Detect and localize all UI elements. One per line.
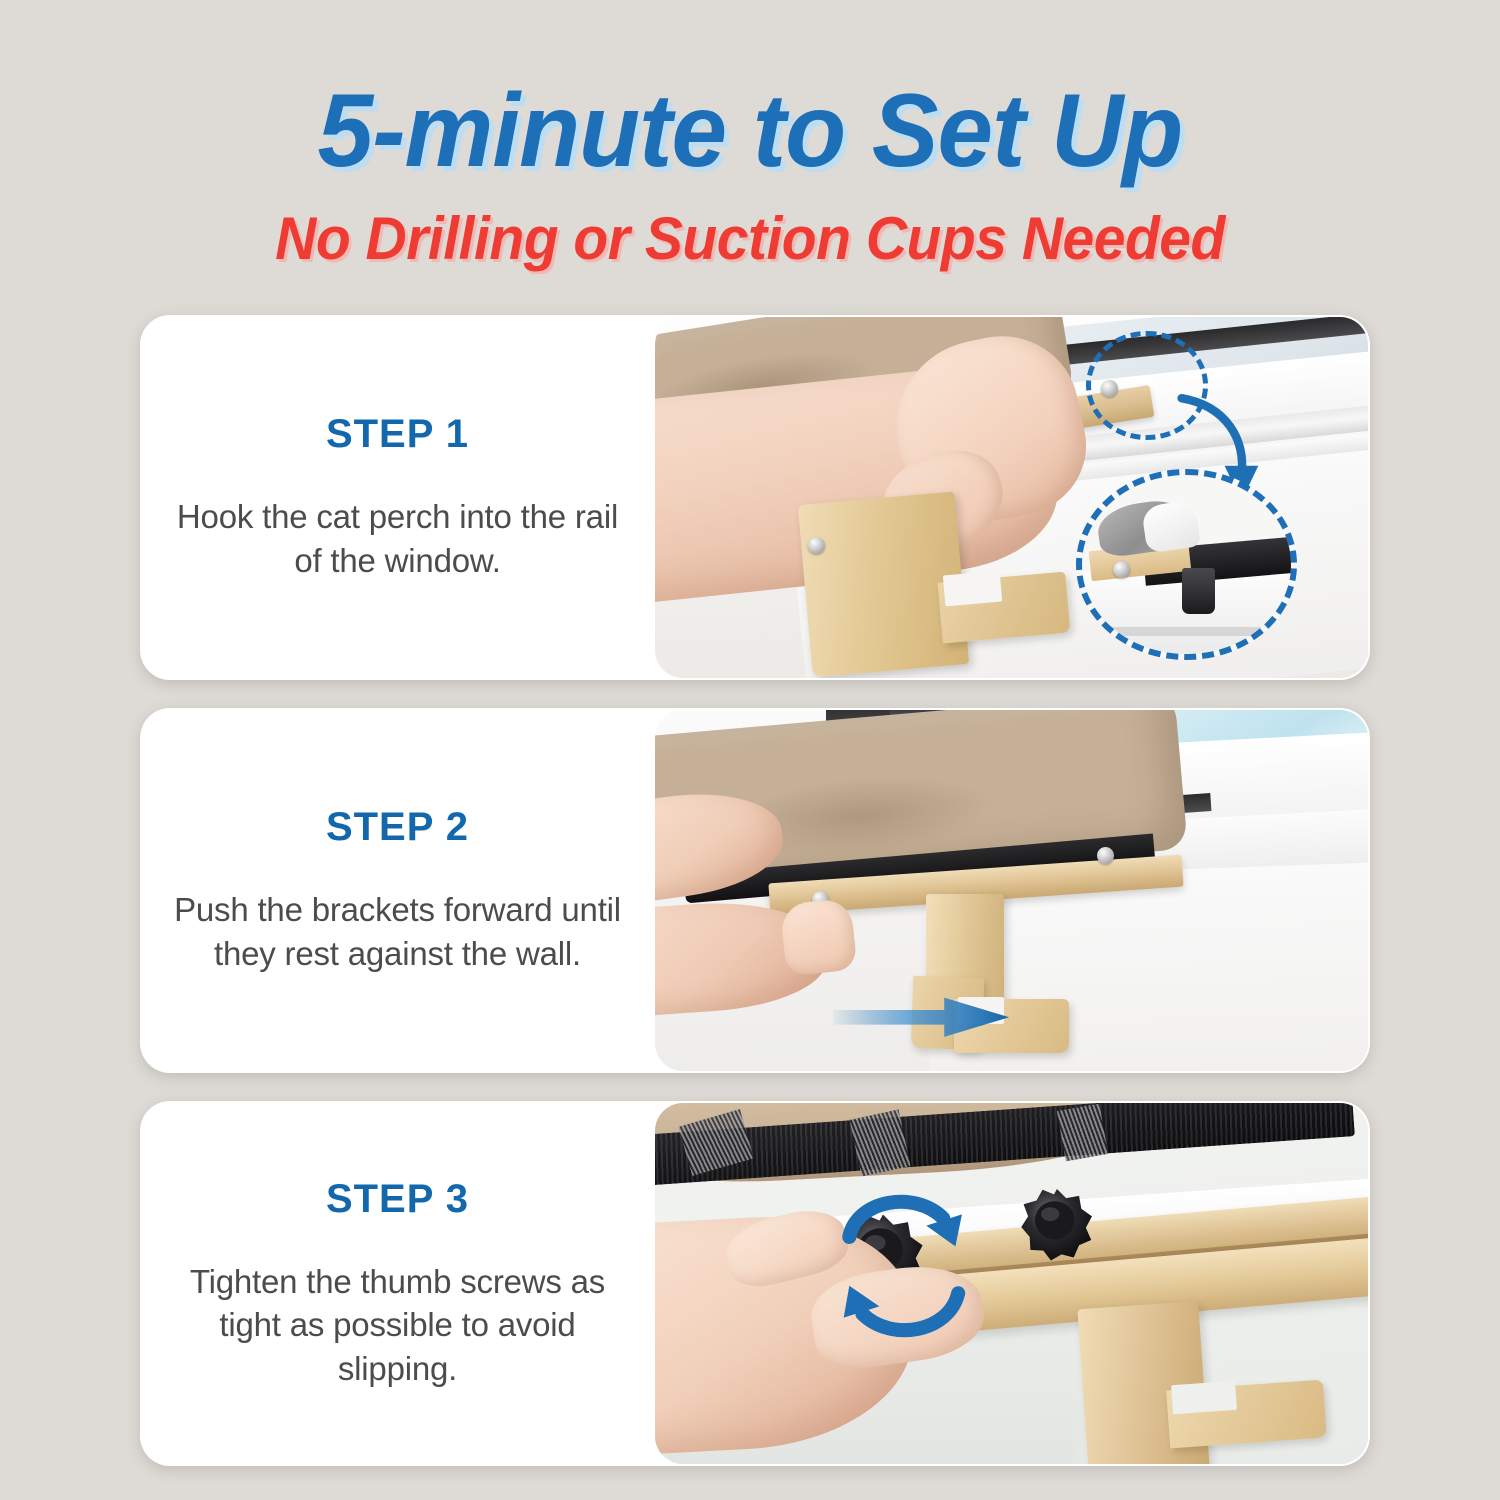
magnified-inset-circle (1076, 469, 1297, 660)
step-card-3: STEP 3 Tighten the thumb screws as tight… (140, 1101, 1370, 1466)
step-2-text-block: STEP 2 Push the brackets forward until t… (140, 708, 655, 1073)
step-card-2: STEP 2 Push the brackets forward until t… (140, 708, 1370, 1073)
page-title: 5-minute to Set Up (30, 74, 1470, 188)
step-card-1: STEP 1 Hook the cat perch into the rail … (140, 315, 1370, 680)
inset-white-pad (1141, 500, 1201, 554)
inset-metal-clip (1182, 568, 1215, 615)
step-3-title: STEP 3 (326, 1177, 469, 1222)
step-3-description: Tighten the thumb screws as tight as pos… (160, 1260, 635, 1391)
step-1-photo (655, 317, 1368, 678)
step-1-description: Hook the cat perch into the rail of the … (160, 495, 635, 582)
mesh-highlight-3 (1057, 1103, 1108, 1160)
step-2-photo (655, 710, 1368, 1071)
step-1-title: STEP 1 (326, 412, 469, 457)
step-2-title: STEP 2 (326, 805, 469, 850)
step-1-text-block: STEP 1 Hook the cat perch into the rail … (140, 315, 655, 680)
leg-hook-notch (1171, 1381, 1237, 1414)
step-3-photo (655, 1103, 1368, 1464)
inset-screw (1113, 561, 1130, 578)
infographic-page: 5-minute to Set Up No Drilling or Suctio… (0, 0, 1500, 1500)
index-finger (780, 898, 858, 977)
inset-rail-line (1076, 627, 1297, 636)
hook-notch (943, 571, 1002, 607)
step-3-text-block: STEP 3 Tighten the thumb screws as tight… (140, 1101, 655, 1466)
push-direction-arrow-icon (833, 992, 1018, 1043)
step-2-description: Push the brackets forward until they res… (160, 888, 635, 975)
page-subtitle: No Drilling or Suction Cups Needed (38, 206, 1463, 272)
thumb-screw-knob-right (1019, 1186, 1095, 1262)
header: 5-minute to Set Up No Drilling or Suctio… (0, 0, 1500, 272)
rotation-arrows-icon (812, 1175, 997, 1363)
